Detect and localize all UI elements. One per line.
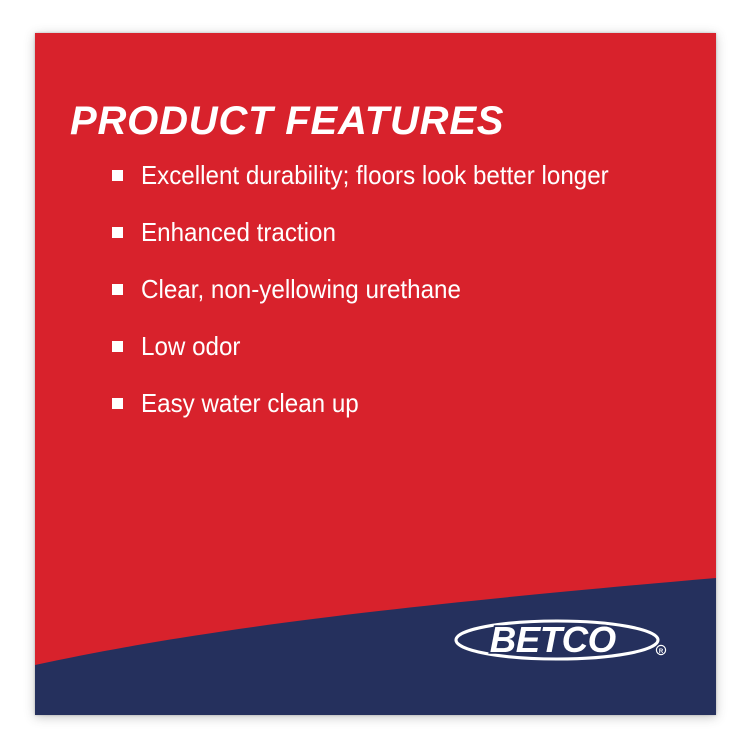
list-item: Clear, non-yellowing urethane (112, 275, 712, 332)
square-bullet-icon (112, 170, 123, 181)
feature-label: Easy water clean up (141, 389, 359, 417)
square-bullet-icon (112, 284, 123, 295)
product-features-card: PRODUCT FEATURES Excellent durability; f… (35, 33, 716, 715)
feature-label: Excellent durability; floors look better… (141, 161, 609, 189)
betco-logo-mark: BETCO R (453, 616, 668, 664)
list-item: Enhanced traction (112, 218, 712, 275)
betco-logo: BETCO R (453, 616, 668, 664)
feature-label: Clear, non-yellowing urethane (141, 275, 461, 303)
svg-text:R: R (659, 649, 664, 655)
page-title: PRODUCT FEATURES (70, 101, 504, 141)
feature-label: Low odor (141, 332, 240, 360)
list-item: Low odor (112, 332, 712, 389)
product-features-list: Excellent durability; floors look better… (112, 161, 712, 446)
list-item: Excellent durability; floors look better… (112, 161, 712, 218)
registered-trademark-icon: R (656, 645, 665, 655)
square-bullet-icon (112, 227, 123, 238)
svg-text:BETCO: BETCO (490, 619, 616, 660)
betco-wordmark: BETCO (490, 619, 616, 660)
square-bullet-icon (112, 341, 123, 352)
feature-label: Enhanced traction (141, 218, 336, 246)
screenshot-canvas: PRODUCT FEATURES Excellent durability; f… (0, 0, 750, 750)
square-bullet-icon (112, 398, 123, 409)
list-item: Easy water clean up (112, 389, 712, 446)
